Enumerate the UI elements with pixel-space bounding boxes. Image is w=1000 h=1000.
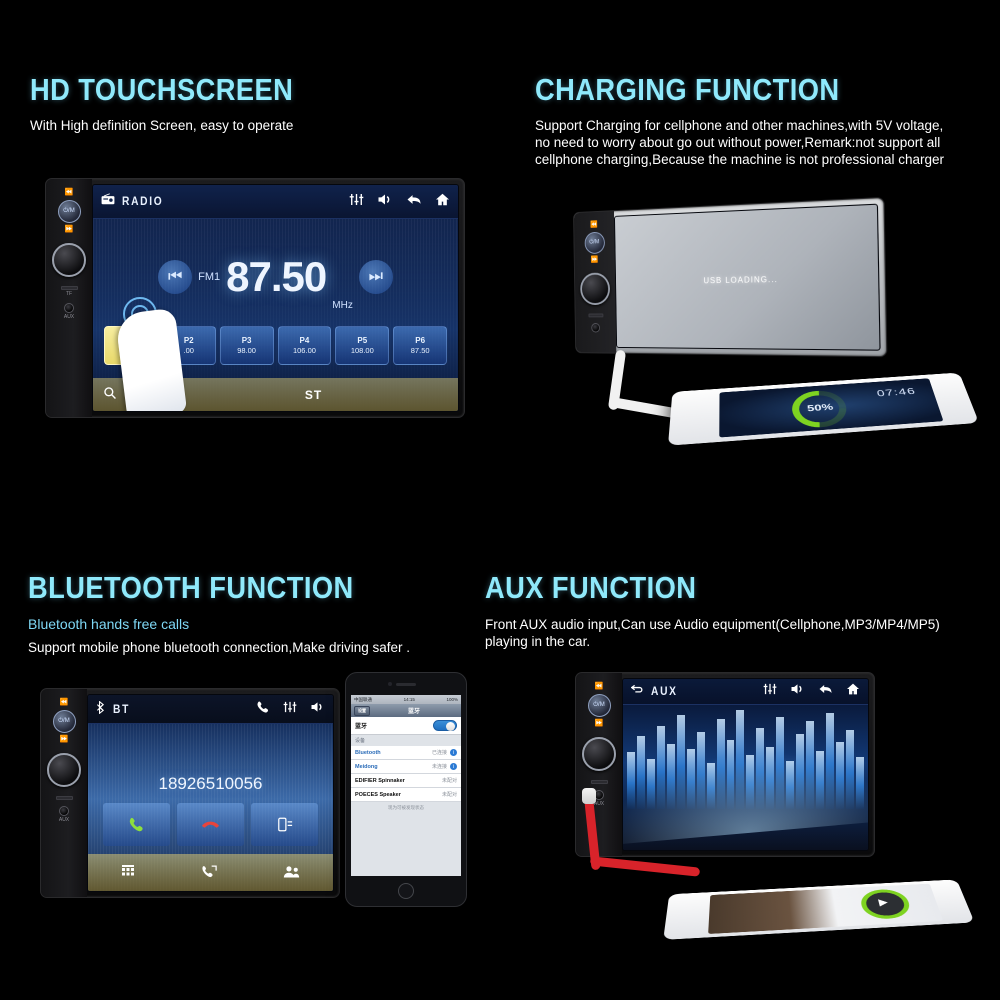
radio-body: ⏮ FM1 87.50 MHz ⏭ P1 87.50 P2 .00 P3 98.… [93, 219, 458, 411]
equalizer-icon[interactable] [349, 193, 364, 210]
volume-knob[interactable] [52, 243, 86, 277]
seek-next-button[interactable]: ⏭ [359, 260, 393, 294]
feature-desc-charging-line-3: cellphone charging,Because the machine i… [535, 151, 944, 168]
band-label: FM1 [198, 271, 220, 283]
feature-desc-aux-line-1: Front AUX audio input,Can use Audio equi… [485, 616, 940, 633]
aux-topbar: AUX [623, 679, 868, 705]
pointing-hand-graphic [115, 308, 187, 412]
bt-device-1-state: 已连接 [432, 749, 447, 756]
next-track-button[interactable]: ⏩ [65, 226, 74, 234]
aux-visualizer [623, 705, 868, 850]
home-icon[interactable] [846, 683, 860, 699]
feature-title-bluetooth: BLUETOOTH FUNCTION [28, 570, 364, 606]
iphone-home-button[interactable] [398, 883, 414, 899]
settings-back-button[interactable]: 设置 [354, 706, 370, 716]
iphone-camera [388, 682, 392, 686]
aux-unit-left-panel: ⏪ ⏻/M ⏩ AUX [576, 673, 622, 856]
bt-power-button[interactable]: ⏻/M [53, 710, 76, 733]
aux-phone [663, 879, 974, 939]
bt-caller-number: 18926510056 [88, 774, 333, 794]
bt-topbar: BT [88, 695, 333, 724]
charging-unit-left-panel: ⏪ ⏻/M ⏩ [574, 211, 616, 353]
radio-source-icon [101, 193, 115, 209]
equalizer-icon[interactable] [283, 701, 297, 717]
iphone-speaker [396, 683, 416, 686]
bt-aux-label: AUX [59, 817, 69, 823]
volume-icon[interactable] [310, 701, 325, 717]
charging-phone: 50% 07:46 [668, 373, 979, 446]
bt-device-4-state: 未配对 [442, 791, 457, 798]
bt-tf-slot[interactable] [56, 796, 73, 800]
aux-phone-screen [708, 884, 943, 934]
bluetooth-toggle-row[interactable]: 蓝牙 [351, 717, 461, 735]
bluetooth-page-title: 蓝牙 [408, 706, 420, 715]
play-icon [878, 899, 889, 907]
aux-source-icon [631, 683, 644, 699]
radio-screen[interactable]: RADIO ⏮ FM1 87.50 MHz [92, 184, 459, 412]
bt-topbar-icons [256, 700, 325, 718]
tf-slot-label: TF [66, 291, 72, 297]
charging-screen[interactable]: USB LOADING... [614, 204, 881, 351]
discoverable-note: 现为可被发现状态 [351, 802, 461, 814]
charging-head-unit: ⏪ ⏻/M ⏩ USB LOADING... [573, 197, 887, 357]
prev-track-button[interactable]: ⏪ [65, 189, 74, 197]
info-icon[interactable]: i [450, 749, 457, 756]
stereo-indicator: ST [305, 388, 322, 402]
aux-head-unit: ⏪ ⏻/M ⏩ AUX AUX [575, 672, 875, 857]
equalizer-icon[interactable] [763, 683, 777, 699]
aux-jack[interactable] [64, 303, 74, 313]
bt-unit-left-panel: ⏪ ⏻/M ⏩ AUX [41, 689, 87, 897]
frequency-unit: MHz [332, 300, 353, 319]
radio-title: RADIO [122, 194, 163, 208]
preset-button-5[interactable]: P5 108.00 [335, 326, 389, 364]
preset-button-6[interactable]: P6 87.50 [393, 326, 447, 364]
bluetooth-screen[interactable]: BT 18926510056 [87, 694, 334, 892]
aux-jack-label: AUX [64, 314, 74, 320]
charge-phone-time: 07:46 [876, 386, 917, 399]
bt-next-button[interactable]: ⏩ [60, 736, 69, 744]
iphone-status-bar: 中国联通 14:15 100% [351, 695, 461, 704]
charging-tf-slot[interactable] [588, 314, 603, 318]
aux-screen[interactable]: AUX [622, 678, 869, 851]
aux-power-button[interactable]: ⏻/M [588, 694, 611, 717]
bt-device-4-name: POECES Speaker [355, 792, 401, 798]
feature-desc-bluetooth-line-1: Support mobile phone bluetooth connectio… [28, 639, 410, 656]
charging-phone-screen: 50% 07:46 [719, 378, 943, 437]
bt-device-3-name: EDIFIER Spinnaker [355, 778, 405, 784]
bt-device-1-name: Bluetooth [355, 750, 381, 756]
answer-call-button[interactable] [103, 803, 170, 846]
iphone-screen[interactable]: 中国联通 14:15 100% 设置 蓝牙 蓝牙 设备 Bluetooth 已连… [351, 695, 461, 876]
preset-6-freq: 87.50 [411, 346, 430, 356]
preset-2-name: P2 [184, 336, 194, 346]
feature-subtitle-bluetooth: Bluetooth hands free calls [28, 616, 410, 633]
charging-power-button[interactable]: ⏻/M [584, 232, 604, 254]
preset-button-4[interactable]: P4 106.00 [278, 326, 332, 364]
call-history-icon[interactable] [201, 864, 217, 881]
radio-topbar-icons [349, 193, 450, 210]
feature-charging: CHARGING FUNCTION Support Charging for c… [535, 72, 944, 168]
feature-title-hd: HD TOUCHSCREEN [30, 72, 293, 108]
unit-left-panel: ⏪ ⏻/M ⏩ TF AUX [46, 179, 92, 417]
bt-device-row-3[interactable]: EDIFIER Spinnaker 未配对 [351, 774, 461, 788]
charging-aux-jack[interactable] [591, 323, 600, 333]
preset-3-freq: 98.00 [237, 346, 256, 356]
bt-device-row-1[interactable]: Bluetooth 已连接 i [351, 746, 461, 760]
aux-plug-connector [582, 788, 596, 804]
bt-device-row-4[interactable]: POECES Speaker 未配对 [351, 788, 461, 802]
feature-hd-touchscreen: HD TOUCHSCREEN With High definition Scre… [30, 72, 329, 134]
info-icon[interactable]: i [450, 763, 457, 770]
seek-prev-button[interactable]: ⏮ [158, 260, 192, 294]
bt-body: 18926510056 [88, 724, 333, 891]
feature-desc-charging-line-2: no need to worry about go out without po… [535, 134, 944, 151]
aux-prev-button[interactable]: ⏪ [595, 683, 604, 691]
aux-cable-horizontal [590, 856, 700, 876]
radio-topbar: RADIO [93, 185, 458, 219]
feature-desc-charging-line-1: Support Charging for cellphone and other… [535, 117, 944, 134]
feature-title-aux: AUX FUNCTION [485, 570, 885, 606]
preset-4-freq: 106.00 [293, 346, 316, 356]
bt-call-actions [103, 803, 319, 846]
bt-aux-jack[interactable] [59, 806, 69, 816]
charging-volume-knob[interactable] [580, 272, 610, 305]
bt-device-3-state: 未配对 [442, 777, 457, 784]
aux-next-button[interactable]: ⏩ [595, 720, 604, 728]
feature-desc-aux-line-2: playing in the car. [485, 633, 940, 650]
bluetooth-toggle-switch[interactable] [433, 720, 457, 731]
transfer-call-button[interactable] [251, 803, 318, 846]
bt-volume-knob[interactable] [47, 753, 81, 787]
charging-next-button[interactable]: ⏩ [591, 257, 599, 265]
bt-device-2-state: 未连接 [432, 763, 447, 770]
preset-2-freq: .00 [184, 346, 194, 356]
bt-title: BT [113, 702, 130, 716]
bluetooth-icon [96, 701, 106, 718]
aux-title: AUX [651, 684, 678, 698]
feature-aux: AUX FUNCTION Front AUX audio input,Can u… [485, 570, 940, 650]
back-icon[interactable] [818, 683, 833, 699]
feature-desc-hd-line-1: With High definition Screen, easy to ope… [30, 117, 329, 134]
aux-volume-knob[interactable] [582, 737, 616, 771]
usb-loading-message: USB LOADING... [703, 274, 778, 284]
devices-group-header: 设备 [351, 735, 461, 746]
end-call-button[interactable] [177, 803, 244, 846]
bluetooth-toggle-label: 蓝牙 [355, 721, 367, 730]
iphone-nav-bar: 设置 蓝牙 [351, 704, 461, 717]
charging-prev-button[interactable]: ⏪ [590, 221, 598, 229]
preset-5-name: P5 [357, 336, 367, 346]
carrier-label: 中国联通 [354, 697, 372, 703]
battery-percent: 100% [446, 697, 458, 702]
bluetooth-head-unit: ⏪ ⏻/M ⏩ AUX BT 1 [40, 688, 340, 898]
preset-5-freq: 108.00 [351, 346, 374, 356]
bt-bottom-tabs [88, 854, 333, 891]
bt-device-row-2[interactable]: Meidong 未连接 i [351, 760, 461, 774]
feature-title-charging: CHARGING FUNCTION [535, 72, 895, 108]
preset-4-name: P4 [300, 336, 310, 346]
tf-card-slot[interactable] [61, 286, 78, 290]
preset-3-name: P3 [242, 336, 252, 346]
bt-prev-button[interactable]: ⏪ [60, 699, 69, 707]
home-icon[interactable] [435, 193, 450, 210]
bt-device-2-name: Meidong [355, 764, 378, 770]
volume-icon[interactable] [377, 193, 393, 210]
search-icon[interactable] [103, 386, 117, 404]
status-time: 14:15 [404, 697, 415, 702]
aux-tf-slot[interactable] [591, 780, 608, 784]
aux-topbar-icons [763, 683, 860, 699]
preset-button-3[interactable]: P3 98.00 [220, 326, 274, 364]
feature-bluetooth: BLUETOOTH FUNCTION Bluetooth hands free … [28, 570, 410, 656]
radio-head-unit: ⏪ ⏻/M ⏩ TF AUX RADIO [45, 178, 465, 418]
power-mode-button[interactable]: ⏻/M [58, 200, 81, 223]
volume-icon[interactable] [790, 683, 805, 699]
contacts-icon[interactable] [283, 864, 300, 881]
preset-6-name: P6 [415, 336, 425, 346]
iphone-device: 中国联通 14:15 100% 设置 蓝牙 蓝牙 设备 Bluetooth 已连… [345, 672, 467, 907]
phone-call-icon[interactable] [256, 700, 270, 718]
frequency-value: 87.50 [226, 253, 326, 301]
keypad-icon[interactable] [121, 864, 135, 881]
back-icon[interactable] [406, 193, 422, 210]
